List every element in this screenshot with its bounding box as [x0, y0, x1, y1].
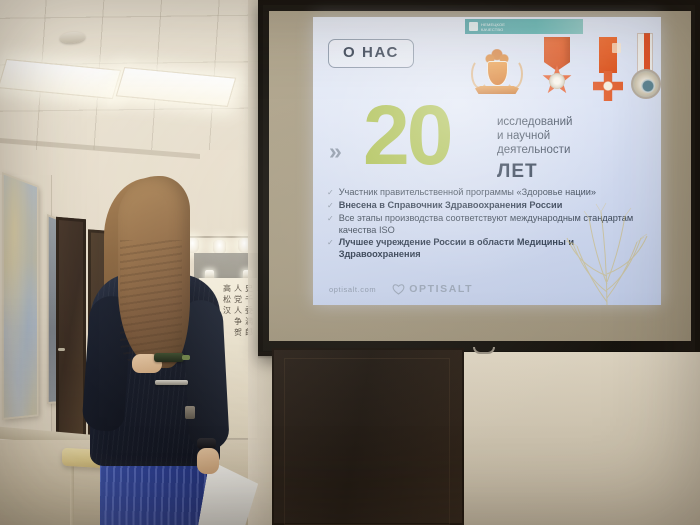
- page-title: О НАС: [343, 44, 399, 61]
- list-item: ✓ Лучшее учреждение России в области Мед…: [327, 237, 657, 260]
- medal-ribbon: [637, 33, 653, 73]
- clicker-tip: [182, 355, 190, 360]
- projection-board: НЕМЕЦКОЕ КАЧЕСТВО О НАС: [258, 0, 700, 356]
- presentation-photo: 史千委满郎 人党人争贺 高松汉: [0, 0, 700, 525]
- abstract-painting: [2, 172, 38, 420]
- hero-years-label: ЛЕТ: [497, 161, 538, 183]
- presenter-hair-strands: [120, 240, 182, 370]
- door-handle[interactable]: [155, 380, 188, 385]
- awards-row: [463, 31, 655, 109]
- round-medal-icon: [631, 33, 661, 109]
- list-item: ✓ Участник правительственной программы «…: [327, 187, 657, 199]
- website-url: optisalt.com: [329, 285, 376, 294]
- list-item: ✓ Внесена в Справочник Здравоохранения Р…: [327, 200, 657, 212]
- list-item-text: Внесена в Справочник Здравоохранения Рос…: [339, 200, 563, 212]
- lower-right-wall: [464, 352, 700, 525]
- medal-medallion: [549, 73, 565, 89]
- room-door[interactable]: [272, 348, 464, 525]
- presenter: [58, 170, 248, 525]
- presenter-hand-right: [197, 448, 219, 474]
- coat-of-arms-emblem-icon: [469, 49, 525, 99]
- medal-disc-inner: [641, 79, 655, 93]
- cross-medal-icon: [591, 37, 625, 109]
- slide-footer: optisalt.com OPTISALT: [329, 283, 473, 295]
- presentation-clicker[interactable]: [154, 353, 184, 362]
- check-icon: ✓: [327, 200, 334, 212]
- list-item: ✓ Все этапы производства соответствуют м…: [327, 213, 657, 236]
- list-item-text: Лучшее учреждение России в области Медиц…: [339, 237, 644, 260]
- hero-number: 20: [363, 93, 450, 177]
- medal-cross: [593, 71, 623, 101]
- door-panel: [284, 358, 450, 525]
- check-icon: ✓: [327, 213, 334, 225]
- medal-ribbon: [599, 37, 617, 73]
- presenter-arm-right: [182, 299, 230, 451]
- ribbon-emblem: [612, 43, 621, 53]
- slide-title-box: О НАС: [328, 39, 414, 68]
- check-icon: ✓: [327, 237, 334, 249]
- projected-slide: НЕМЕЦКОЕ КАЧЕСТВО О НАС: [313, 17, 661, 305]
- brand-logo: OPTISALT: [392, 283, 473, 295]
- medal-disc: [631, 69, 661, 99]
- hero-statistic: » 20 исследований и научной деятельности…: [329, 105, 649, 193]
- screen-hook: [473, 347, 495, 354]
- star-order-medal-icon: [535, 37, 579, 107]
- emblem-ribbon: [475, 86, 519, 94]
- shield: [487, 61, 508, 86]
- banner-text: НЕМЕЦКОЕ КАЧЕСТВО: [481, 22, 505, 32]
- banner-logo-icon: [469, 22, 478, 31]
- list-item-text: Участник правительственной программы «Зд…: [339, 187, 596, 199]
- door-lock[interactable]: [185, 406, 195, 419]
- heart-icon: [392, 283, 405, 295]
- check-icon: ✓: [327, 187, 334, 199]
- hero-description: исследований и научной деятельности: [497, 115, 572, 157]
- brand-name: OPTISALT: [409, 283, 473, 295]
- list-item-text: Все этапы производства соответствуют меж…: [339, 213, 644, 236]
- chevron-right-icon: »: [329, 138, 340, 165]
- bullet-list: ✓ Участник правительственной программы «…: [327, 187, 657, 261]
